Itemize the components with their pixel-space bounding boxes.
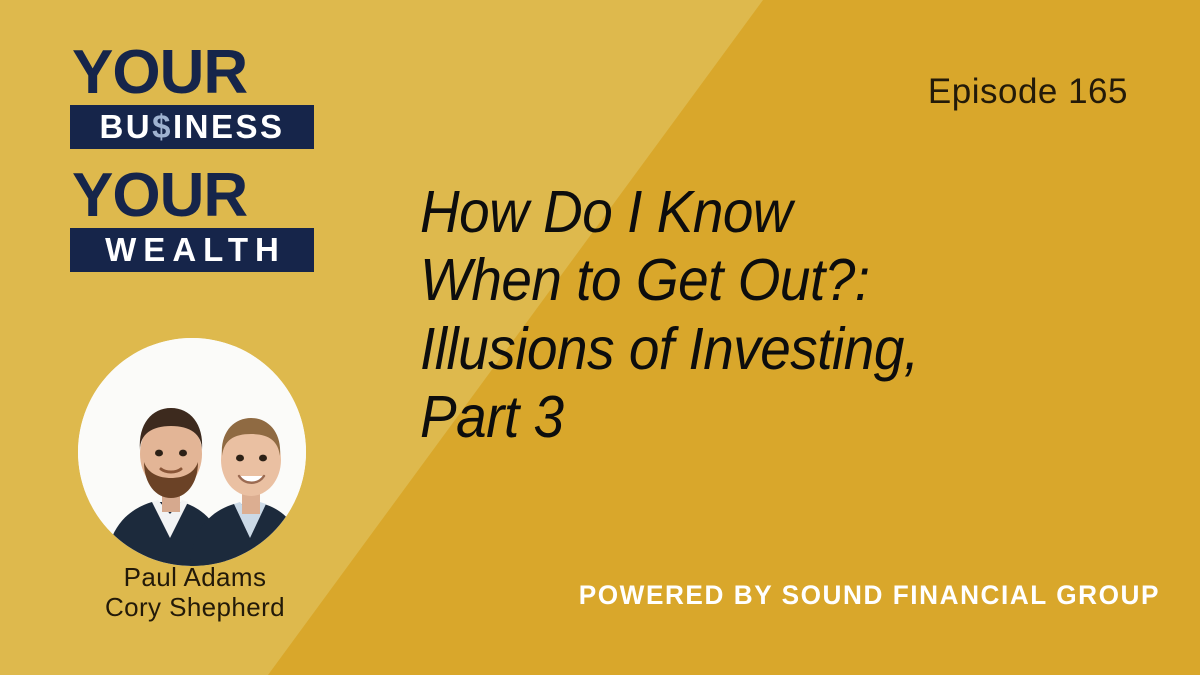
logo-word-your-2: YOUR	[72, 167, 314, 226]
hosts-photo	[78, 338, 306, 566]
logo-bar-wealth: WEALTH	[70, 228, 314, 272]
show-logo: YOUR BU$INESS YOUR WEALTH	[70, 44, 314, 278]
episode-title-line-1: How Do I Know	[420, 178, 1071, 246]
episode-title: How Do I Know When to Get Out?: Illusion…	[420, 178, 1071, 452]
episode-title-line-2: When to Get Out?:	[420, 246, 1071, 314]
episode-title-line-4: Part 3	[420, 383, 1071, 451]
logo-business-suffix: INESS	[173, 108, 285, 145]
host-names: Paul Adams Cory Shepherd	[0, 562, 390, 622]
host-name-2: Cory Shepherd	[0, 592, 390, 622]
episode-label: Episode 165	[928, 72, 1128, 112]
dollar-sign-icon: $	[152, 108, 173, 145]
hosts-photo-illustration	[78, 338, 306, 566]
logo-word-your-1: YOUR	[72, 44, 314, 103]
logo-bar-business-label: BU$INESS	[99, 108, 284, 146]
episode-title-line-3: Illusions of Investing,	[420, 315, 1071, 383]
logo-bar-business: BU$INESS	[70, 105, 314, 149]
logo-bar-wealth-label: WEALTH	[98, 231, 286, 269]
powered-by-label: POWERED BY SOUND FINANCIAL GROUP	[578, 580, 1160, 611]
podcast-cover-canvas: YOUR BU$INESS YOUR WEALTH	[0, 0, 1200, 675]
host-name-1: Paul Adams	[0, 562, 390, 592]
logo-business-prefix: BU	[99, 108, 152, 145]
